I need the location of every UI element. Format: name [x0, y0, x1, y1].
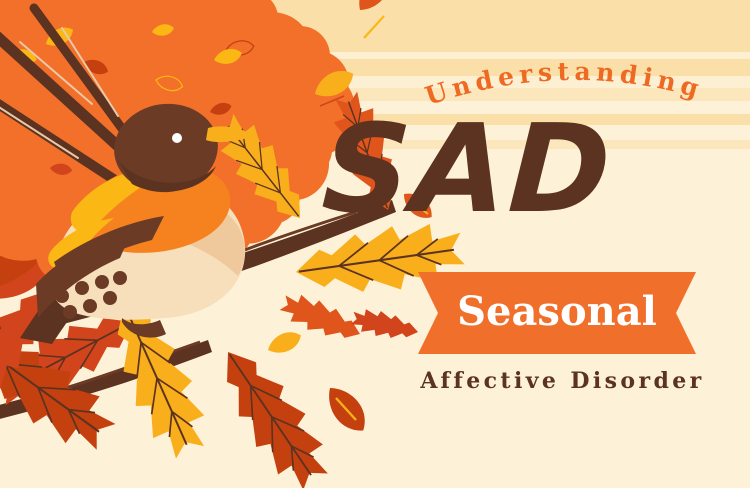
falling-leaf-5 — [319, 380, 374, 439]
ribbon-seasonal: Seasonal — [418, 272, 696, 354]
falling-leaf-7 — [350, 306, 421, 345]
ribbon-label: Seasonal — [418, 272, 696, 354]
falling-leaf-4 — [264, 327, 304, 358]
falling-leaf-1 — [351, 0, 396, 38]
poster-canvas: Understanding SAD Seasonal Affective Dis… — [0, 0, 750, 488]
subtitle-affective-disorder: Affective Disorder — [390, 368, 735, 394]
acronym-sad: SAD — [0, 108, 750, 230]
